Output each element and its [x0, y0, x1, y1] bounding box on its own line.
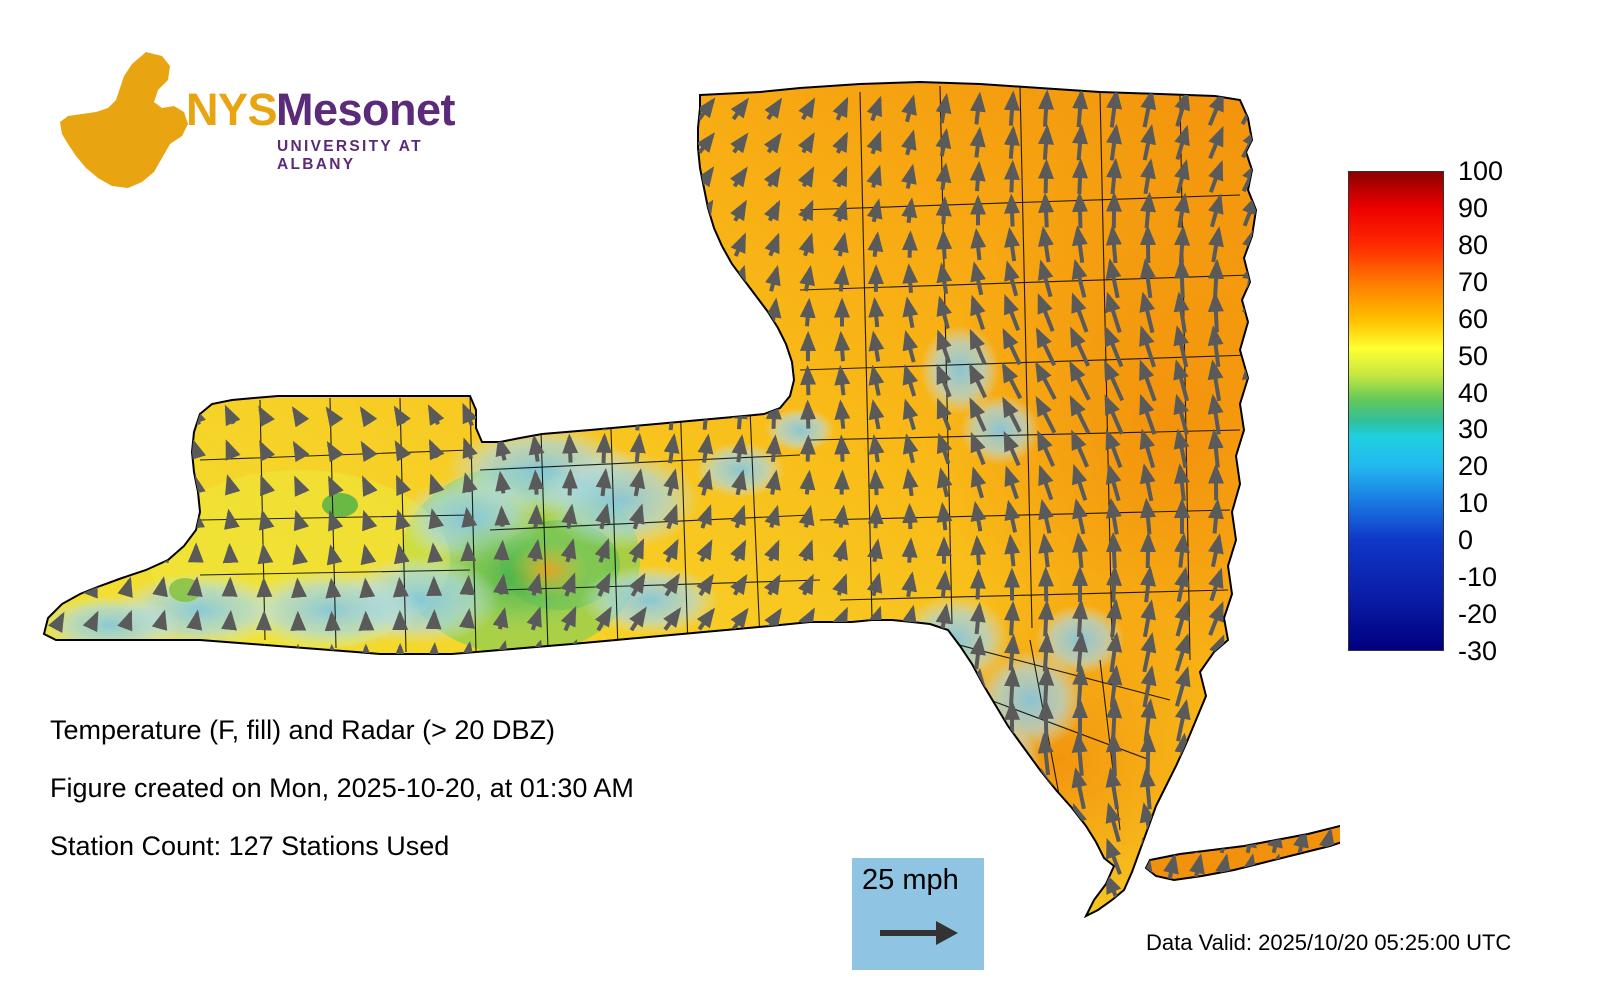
wind-arrow: [671, 915, 673, 937]
wind-arrow: [467, 612, 469, 628]
wind-arrow: [298, 582, 299, 591]
wind-arrow: [808, 438, 809, 461]
wind-arrow: [874, 742, 879, 769]
wind-arrow: [602, 267, 607, 292]
wind-arrow: [194, 646, 197, 661]
wind-arrow: [498, 370, 505, 393]
wind-arrow: [910, 507, 911, 529]
wind-arrow: [1045, 604, 1047, 637]
wind-arrow: [1148, 229, 1149, 263]
wind-arrow: [1046, 571, 1047, 602]
wind-arrow: [941, 640, 946, 668]
wind-arrow: [534, 335, 539, 361]
wind-arrow: [705, 916, 707, 937]
wind-arrow: [434, 103, 435, 117]
wind-arrow: [60, 374, 61, 391]
wind-arrow: [228, 273, 231, 287]
wind-arrow: [1170, 779, 1175, 801]
wind-arrow: [499, 336, 505, 359]
wind-arrow: [92, 207, 96, 217]
wind-arrow: [1148, 536, 1149, 568]
wind-arrow: [128, 272, 129, 288]
wind-arrow: [1196, 805, 1201, 827]
wind-arrow: [1242, 672, 1258, 704]
wind-arrow: [57, 648, 64, 660]
wind-arrow: [329, 308, 336, 321]
wind-arrow: [1178, 877, 1186, 908]
wind-arrow: [875, 301, 877, 327]
wind-arrow: [535, 236, 537, 257]
wind-arrow: [773, 335, 775, 362]
wind-arrow: [568, 235, 573, 257]
wind-arrow: [599, 168, 609, 187]
wind-arrow: [94, 921, 95, 931]
wind-arrow: [92, 173, 96, 183]
wind-arrow: [331, 208, 332, 216]
wind-arrow: [1274, 805, 1279, 827]
wind-arrow: [226, 374, 234, 390]
wind-arrow: [398, 273, 402, 286]
wind-arrow: [1274, 779, 1279, 801]
wind-arrow: [565, 676, 576, 701]
wind-arrow: [665, 135, 678, 153]
wind-arrow: [941, 810, 947, 838]
wind-arrow: [1215, 263, 1217, 297]
wind-arrow: [1080, 196, 1081, 228]
caption-created: Figure created on Mon, 2025-10-20, at 01…: [50, 773, 850, 804]
wind-arrow: [974, 809, 983, 838]
wind-arrow: [598, 99, 610, 120]
caption-stations: Station Count: 127 Stations Used: [50, 831, 850, 862]
wind-arrow: [228, 921, 232, 930]
wind-arrow: [1242, 639, 1258, 669]
wind-arrow: [433, 239, 435, 252]
wind-arrow: [1010, 738, 1014, 774]
wind-arrow: [943, 574, 945, 598]
wind-arrow: [1274, 883, 1279, 905]
wind-arrow: [1011, 198, 1012, 227]
wind-arrow: [366, 681, 367, 696]
wind-arrow: [297, 514, 300, 523]
wind-arrow: [1214, 772, 1218, 809]
wind-arrow: [433, 512, 436, 524]
wind-arrow: [977, 165, 979, 191]
wind-arrow: [162, 272, 163, 288]
wind-arrow: [733, 644, 747, 664]
wind-arrow: [396, 340, 404, 355]
wind-arrow: [767, 677, 781, 698]
wind-arrow: [161, 172, 164, 183]
wind-arrow: [1196, 779, 1201, 801]
wind-arrow: [1011, 638, 1014, 671]
wind-arrow: [464, 338, 472, 358]
wind-arrow: [465, 920, 470, 933]
wind-arrow: [807, 474, 809, 495]
wind-arrow: [1243, 606, 1257, 634]
wind-arrow: [127, 407, 130, 425]
wind-arrow: [631, 643, 646, 665]
wind-arrow: [467, 238, 468, 254]
wind-arrow: [872, 676, 880, 701]
wind-arrow: [500, 101, 505, 120]
wind-arrow: [93, 339, 94, 357]
figure-captions: Temperature (F, fill) and Radar (> 20 DB…: [50, 715, 850, 889]
wind-arrow: [1300, 857, 1305, 879]
wind-arrow: [671, 402, 674, 430]
wind-arrow: [907, 708, 912, 737]
wind-arrow: [57, 105, 63, 115]
wind-arrow: [807, 302, 809, 327]
wind-arrow: [263, 547, 264, 556]
wind-arrow: [1247, 772, 1254, 807]
wind-arrow: [263, 241, 265, 252]
wind-arrow: [195, 138, 197, 150]
wind-arrow: [229, 513, 231, 524]
wind-arrow: [1326, 857, 1331, 879]
wind-arrow: [1244, 738, 1255, 773]
wind-arrow: [128, 305, 129, 323]
wind-arrow: [1326, 805, 1331, 827]
wind-arrow: [872, 709, 879, 736]
data-valid-timestamp: Data Valid: 2025/10/20 05:25:00 UTC: [1146, 930, 1511, 956]
wind-arrow: [570, 473, 571, 496]
wind-arrow: [295, 307, 301, 320]
wind-arrow: [195, 173, 197, 184]
wind-arrow: [1039, 913, 1053, 940]
wind-arrow: [702, 268, 710, 292]
colorbar-tick--30: -30: [1458, 636, 1497, 666]
wind-arrow: [229, 647, 231, 662]
wind-arrow: [876, 508, 877, 528]
wind-speed-key: 25 mph: [852, 858, 984, 970]
wind-arrow: [364, 922, 369, 929]
wind-arrow: [1249, 807, 1252, 841]
wind-key-label: 25 mph: [862, 864, 959, 897]
wind-arrow: [1170, 805, 1175, 827]
wind-arrow: [808, 403, 809, 428]
wind-arrow: [297, 241, 299, 251]
wind-arrow: [768, 644, 781, 663]
wind-arrow: [1180, 806, 1184, 842]
wind-arrow: [160, 679, 165, 697]
wind-arrow: [195, 580, 196, 592]
wind-arrow: [1039, 878, 1053, 906]
wind-arrow: [1300, 779, 1305, 801]
wind-arrow: [260, 375, 268, 390]
wind-arrow: [841, 508, 844, 527]
wind-arrow: [93, 407, 95, 424]
colorbar-tick-70: 70: [1458, 267, 1488, 297]
wind-arrow: [91, 104, 97, 116]
wind-arrow: [631, 100, 645, 121]
wind-arrow: [1222, 883, 1227, 905]
wind-arrow: [977, 705, 978, 739]
wind-arrow: [1079, 128, 1082, 161]
wind-arrow: [196, 206, 197, 218]
wind-arrow: [1073, 842, 1086, 873]
wind-arrow: [569, 437, 570, 462]
wind-arrow: [194, 921, 198, 931]
wind-arrow: [125, 647, 131, 662]
wind-arrow: [332, 615, 333, 625]
wind-arrow: [568, 368, 571, 396]
wind-arrow: [837, 677, 847, 700]
wind-arrow: [907, 674, 914, 701]
wind-arrow: [431, 306, 438, 323]
wind-arrow: [1170, 831, 1175, 853]
wind-arrow: [1011, 129, 1013, 158]
colorbar-tick-30: 30: [1458, 414, 1488, 444]
wind-arrow: [908, 811, 912, 837]
wind-arrow: [1011, 164, 1012, 193]
wind-arrow: [773, 438, 775, 462]
wind-arrow: [910, 234, 911, 257]
wind-arrow: [365, 548, 367, 556]
wind-arrow: [808, 917, 809, 935]
wind-arrow: [802, 677, 814, 699]
wind-arrow: [501, 204, 503, 221]
colorbar-tick-20: 20: [1458, 451, 1488, 481]
wind-arrow: [364, 274, 369, 286]
wind-arrow: [229, 240, 230, 252]
wind-arrow: [160, 138, 164, 150]
wind-arrow: [1144, 857, 1149, 879]
wind-arrow: [1045, 670, 1047, 707]
colorbar-tick-50: 50: [1458, 341, 1488, 371]
wind-arrow: [909, 541, 911, 562]
wind-arrow: [875, 812, 876, 836]
wind-arrow: [330, 923, 334, 930]
wind-arrow: [841, 403, 844, 428]
wind-arrow: [1079, 162, 1080, 194]
wind-arrow: [465, 304, 471, 323]
wind-arrow: [1326, 779, 1331, 801]
wind-arrow: [501, 578, 504, 595]
wind-arrow: [875, 777, 876, 803]
colorbar-tick-60: 60: [1458, 304, 1488, 334]
wind-arrow: [264, 647, 265, 661]
wind-arrow: [1222, 805, 1227, 827]
wind-arrow: [774, 369, 775, 396]
wind-arrow: [227, 306, 232, 322]
wind-arrow: [604, 915, 605, 937]
wind-arrow: [875, 473, 876, 495]
wind-arrow: [466, 271, 469, 289]
wind-arrow: [395, 375, 404, 390]
wind-arrow: [535, 302, 537, 327]
wind-arrow: [872, 643, 880, 666]
colorbar-tick-90: 90: [1458, 193, 1488, 223]
wind-arrow: [910, 776, 911, 804]
wind-arrow: [705, 402, 708, 429]
wind-arrow: [1300, 883, 1305, 905]
wind-arrow: [604, 367, 605, 396]
wind-arrow: [160, 339, 164, 358]
colorbar-tick--10: -10: [1458, 562, 1497, 592]
wind-arrow: [1249, 363, 1251, 400]
wind-arrow: [297, 208, 298, 217]
wind-arrow: [93, 273, 95, 288]
wind-arrow: [399, 240, 401, 251]
wind-arrow: [733, 677, 748, 699]
wind-arrow: [597, 676, 611, 701]
wind-arrow: [664, 644, 680, 665]
wind-arrow: [161, 305, 164, 323]
wind-arrow: [1011, 605, 1013, 636]
wind-arrow: [633, 202, 643, 222]
wind-arrow: [774, 917, 775, 936]
wind-arrow: [1045, 128, 1047, 159]
wind-arrow: [261, 307, 267, 321]
wind-arrow: [841, 335, 843, 361]
colorbar-tick--20: -20: [1458, 599, 1497, 629]
wind-arrow: [127, 339, 130, 358]
wind-arrow: [499, 405, 506, 427]
wind-arrow: [1248, 883, 1253, 905]
wind-arrow: [195, 613, 197, 626]
wind-arrow: [1045, 637, 1047, 672]
wind-arrow: [1079, 603, 1081, 637]
wind-arrow: [127, 546, 129, 557]
wind-arrow: [331, 241, 334, 251]
wind-arrow: [698, 677, 714, 699]
wind-arrow: [161, 546, 162, 558]
wind-arrow: [193, 339, 199, 357]
wind-arrow: [635, 267, 642, 292]
wind-arrow: [500, 170, 503, 186]
wind-arrow: [160, 442, 163, 458]
wind-arrow: [432, 272, 436, 287]
wind-arrow: [93, 547, 96, 557]
wind-arrow: [93, 240, 96, 252]
wind-arrow: [703, 301, 709, 328]
wind-arrow: [738, 301, 743, 327]
wind-arrow: [1079, 669, 1082, 707]
wind-arrow: [60, 408, 61, 424]
wind-arrow: [701, 236, 710, 257]
wind-arrow: [1181, 262, 1183, 297]
wind-arrow: [499, 677, 504, 699]
wind-arrow: [942, 673, 947, 703]
wind-arrow: [91, 647, 98, 660]
wind-arrow: [1196, 831, 1201, 853]
wind-arrow: [670, 333, 673, 362]
wind-arrow: [1196, 883, 1201, 905]
wind-arrow: [467, 645, 470, 663]
wind-arrow: [230, 173, 231, 183]
wind-arrow: [1300, 805, 1305, 827]
wind-arrow: [534, 917, 538, 935]
wind-arrow: [601, 235, 608, 257]
wind-arrow: [598, 134, 609, 153]
wind-arrow: [467, 137, 469, 152]
wind-arrow: [841, 917, 843, 936]
wind-arrow: [433, 546, 434, 558]
wind-arrow: [193, 373, 200, 391]
wind-arrow: [501, 270, 503, 290]
wind-arrow: [909, 267, 911, 293]
wind-arrow: [296, 274, 300, 286]
wind-arrow: [842, 473, 843, 494]
wind-arrow: [328, 375, 337, 388]
wind-arrow: [1248, 779, 1253, 801]
wind-arrow: [160, 373, 165, 392]
wind-arrow: [664, 677, 680, 700]
wind-arrow: [92, 139, 97, 149]
wind-arrow: [1008, 773, 1015, 807]
wind-arrow: [399, 207, 400, 217]
wind-arrow: [397, 307, 404, 322]
wind-arrow: [704, 334, 708, 362]
colorbar-tick-10: 10: [1458, 488, 1488, 518]
colorbar-gradient: [1348, 171, 1444, 651]
wind-arrow: [330, 888, 335, 895]
wind-arrow: [126, 173, 130, 184]
wind-arrow: [1209, 671, 1222, 705]
wind-arrow: [943, 233, 944, 259]
wind-arrow: [977, 606, 980, 634]
wind-arrow: [230, 547, 231, 557]
wind-arrow: [1170, 883, 1175, 905]
wind-arrow: [332, 582, 333, 591]
wind-arrow: [398, 922, 403, 930]
wind-arrow: [565, 643, 576, 666]
wind-arrow: [1045, 93, 1047, 126]
wind-arrow: [433, 646, 434, 662]
wind-arrow: [977, 539, 979, 565]
wind-arrow: [94, 442, 95, 457]
wind-arrow: [500, 918, 505, 934]
wind-arrow: [1040, 808, 1051, 841]
wind-arrow: [567, 202, 574, 222]
wind-arrow: [260, 341, 268, 356]
wind-arrow: [533, 169, 539, 187]
wind-arrow: [632, 135, 645, 154]
wind-arrow: [331, 514, 334, 522]
wind-arrow: [195, 512, 196, 524]
wind-arrow: [841, 438, 842, 461]
wind-arrow: [532, 100, 539, 120]
wind-arrow: [193, 408, 199, 425]
wind-arrow: [634, 235, 643, 257]
wind-arrow: [638, 915, 639, 937]
wind-arrow: [636, 300, 640, 328]
wind-arrow: [262, 274, 266, 287]
wind-arrow: [637, 437, 640, 464]
wind-arrow: [430, 339, 438, 356]
wind-arrow: [536, 508, 537, 527]
wind-arrow: [126, 373, 129, 392]
wind-arrow: [802, 644, 813, 664]
wind-arrow: [1215, 296, 1217, 333]
wind-arrow: [943, 200, 944, 224]
wind-arrow: [943, 706, 946, 737]
wind-arrow: [195, 272, 197, 287]
wind-arrow: [126, 138, 131, 149]
wind-arrow: [1212, 737, 1220, 774]
wind-arrow: [161, 206, 163, 218]
colorbar-tick-80: 80: [1458, 230, 1488, 260]
wind-arrow: [500, 303, 504, 325]
wind-arrow: [500, 136, 504, 153]
wind-arrow: [365, 241, 368, 251]
wind-arrow: [363, 307, 370, 320]
wind-arrow: [1249, 877, 1251, 907]
wind-arrow: [1143, 877, 1154, 908]
wind-arrow: [160, 407, 165, 425]
wind-arrow: [637, 402, 638, 431]
wind-arrow: [467, 171, 469, 185]
